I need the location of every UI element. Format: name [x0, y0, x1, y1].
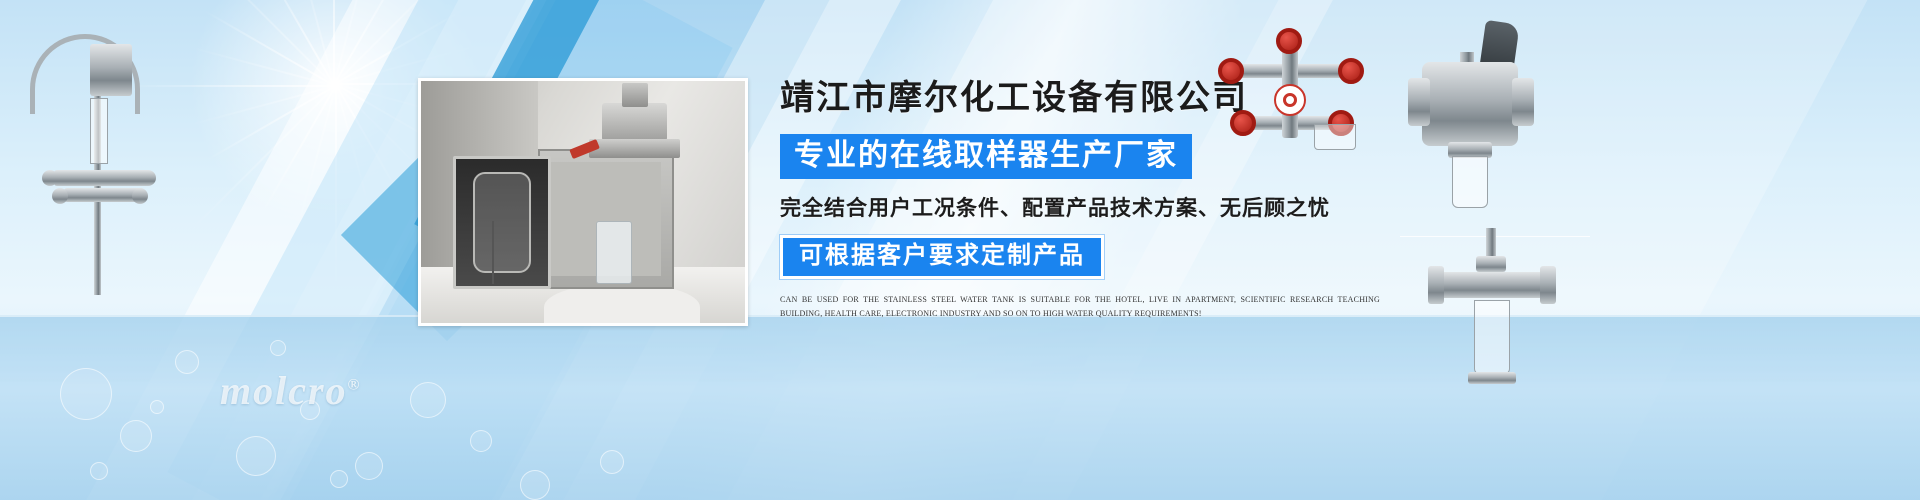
tagline-highlight: 专业的在线取样器生产厂家 [780, 134, 1192, 180]
subline-text: 完全结合用户工况条件、配置产品技术方案、无后顾之忧 [780, 192, 1420, 222]
watermark-text: molcro [220, 368, 348, 413]
sampler-vial-icon [1428, 228, 1558, 428]
sampling-assembly-icon [8, 20, 178, 320]
watermark-registered-mark: ® [348, 377, 362, 394]
watermark-logo: molcro® [220, 367, 362, 414]
promo-banner: 靖江市摩尔化工设备有限公司 专业的在线取样器生产厂家 完全结合用户工况条件、配置… [0, 0, 1920, 500]
valve-tree-icon [1218, 28, 1368, 148]
valve-body-icon [1408, 22, 1538, 222]
english-description: CAN BE USED FOR THE STAINLESS STEEL WATE… [780, 293, 1380, 320]
custom-product-badge: 可根据客户要求定制产品 [780, 235, 1104, 279]
product-photo [418, 78, 748, 326]
